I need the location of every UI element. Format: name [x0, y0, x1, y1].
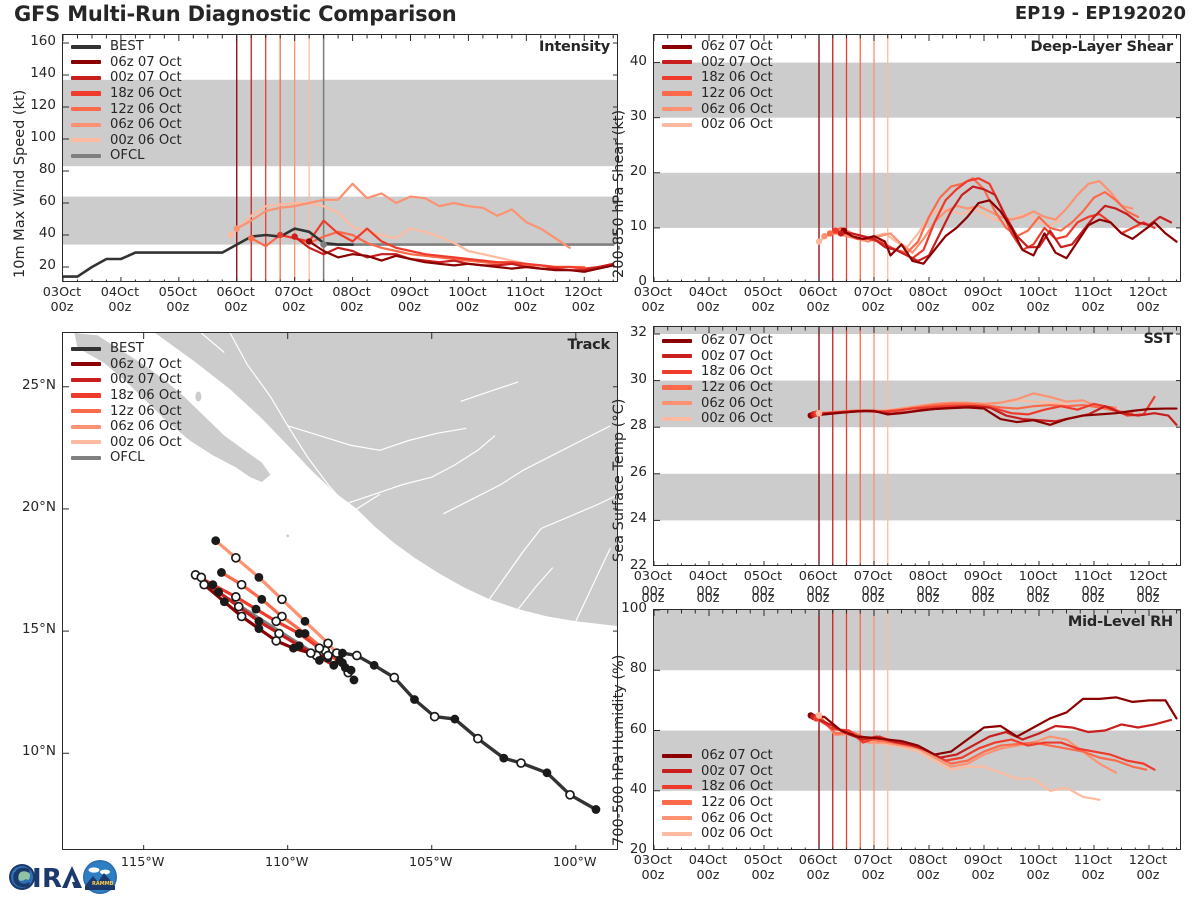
legend-swatch: [71, 107, 101, 111]
intensity-y-axis-label: 10m Max Wind Speed (kt): [12, 90, 28, 278]
legend-label: 18z 06 Oct: [110, 86, 182, 101]
shear-legend: 06z 07 Oct00z 07 Oct18z 06 Oct12z 06 Oct…: [662, 39, 773, 133]
legend-label: 12z 06 Oct: [110, 404, 182, 419]
legend-swatch: [71, 45, 101, 49]
legend-swatch: [662, 816, 692, 820]
legend-swatch: [662, 832, 692, 836]
legend-item: OFCL: [71, 148, 182, 164]
sst-panel: SST 06z 07 Oct00z 07 Oct18z 06 Oct12z 06…: [653, 326, 1181, 566]
legend-swatch: [71, 154, 101, 158]
legend-item: 06z 06 Oct: [662, 810, 773, 826]
legend-swatch: [71, 138, 101, 142]
legend-label: 00z 07 Oct: [110, 70, 182, 85]
legend-swatch: [662, 123, 692, 127]
legend-swatch: [662, 800, 692, 804]
legend-swatch: [662, 60, 692, 64]
x-tick-label: 105°W: [396, 856, 466, 871]
legend-label: 06z 06 Oct: [110, 117, 182, 132]
legend-label: 06z 06 Oct: [701, 396, 773, 411]
intensity-panel-title: Intensity: [539, 39, 610, 55]
legend-label: 06z 07 Oct: [110, 55, 182, 70]
legend-item: 00z 06 Oct: [662, 826, 773, 842]
legend-swatch: [71, 409, 101, 413]
legend-item: BEST: [71, 39, 182, 55]
y-tick-label: 30: [607, 371, 647, 387]
legend-swatch: [662, 385, 692, 389]
rh-panel-title: Mid-Level RH: [1068, 614, 1173, 630]
legend-item: 00z 07 Oct: [71, 372, 182, 388]
legend-swatch: [71, 425, 101, 429]
legend-label: 12z 06 Oct: [701, 86, 773, 101]
legend-swatch: [662, 339, 692, 343]
legend-swatch: [662, 354, 692, 358]
legend-item: 06z 07 Oct: [662, 748, 773, 764]
legend-label: 12z 06 Oct: [110, 102, 182, 117]
x-tick-label: 12Oct00z: [549, 286, 617, 315]
legend-item: 06z 06 Oct: [71, 419, 182, 435]
legend-item: 00z 07 Oct: [662, 764, 773, 780]
legend-swatch: [71, 393, 101, 397]
track-panel-title: Track: [568, 337, 610, 353]
y-tick-label: 32: [607, 324, 647, 340]
svg-text:RAMMB: RAMMB: [92, 881, 114, 887]
legend-item: 06z 06 Oct: [71, 117, 182, 133]
legend-item: 12z 06 Oct: [662, 380, 773, 396]
legend-item: 06z 07 Oct: [662, 39, 773, 55]
y-tick-label: 120: [16, 97, 56, 113]
x-tick-label: 12Oct00z: [1114, 286, 1182, 315]
legend-item: 12z 06 Oct: [662, 86, 773, 102]
legend-item: 18z 06 Oct: [71, 388, 182, 404]
y-tick-label: 24: [607, 510, 647, 526]
y-tick-label: 160: [16, 33, 56, 49]
y-tick-label: 40: [607, 781, 647, 797]
legend-swatch: [71, 362, 101, 366]
legend-swatch: [662, 45, 692, 49]
rh-y-axis-label: 700-500 hPa Humidity (%): [611, 655, 627, 846]
legend-swatch: [71, 378, 101, 382]
legend-swatch: [71, 76, 101, 80]
y-tick-label: 60: [607, 721, 647, 737]
legend-item: 06z 07 Oct: [662, 333, 773, 349]
svg-text:R: R: [42, 864, 62, 894]
x-tick-label: 00z: [1114, 592, 1182, 607]
legend-item: 00z 06 Oct: [71, 435, 182, 451]
cira-logo: C I R RAMMB: [6, 856, 126, 898]
y-tick-label: 40: [16, 225, 56, 241]
legend-label: 00z 07 Oct: [701, 349, 773, 364]
legend-label: 18z 06 Oct: [701, 779, 773, 794]
legend-item: 12z 06 Oct: [71, 403, 182, 419]
y-tick-label: 10: [607, 218, 647, 234]
legend-label: OFCL: [110, 148, 145, 163]
storm-id-title: EP19 - EP192020: [1015, 3, 1186, 24]
legend-label: 06z 07 Oct: [701, 333, 773, 348]
legend-item: 18z 06 Oct: [662, 779, 773, 795]
legend-swatch: [71, 456, 101, 460]
legend-label: 00z 07 Oct: [701, 55, 773, 70]
legend-swatch: [662, 785, 692, 789]
y-tick-label: 80: [16, 161, 56, 177]
legend-swatch: [662, 76, 692, 80]
legend-item: 00z 06 Oct: [662, 411, 773, 427]
y-tick-label: 100: [16, 129, 56, 145]
legend-label: BEST: [110, 341, 144, 356]
legend-label: 06z 06 Oct: [701, 102, 773, 117]
legend-label: 06z 07 Oct: [701, 748, 773, 763]
legend-swatch: [662, 370, 692, 374]
legend-label: 00z 06 Oct: [701, 826, 773, 841]
y-tick-label: 40: [607, 53, 647, 69]
sst-legend: 06z 07 Oct00z 07 Oct18z 06 Oct12z 06 Oct…: [662, 333, 773, 427]
rh-legend: 06z 07 Oct00z 07 Oct18z 06 Oct12z 06 Oct…: [662, 748, 773, 842]
legend-swatch: [662, 401, 692, 405]
y-tick-label: 80: [607, 660, 647, 676]
legend-label: 06z 06 Oct: [701, 811, 773, 826]
legend-item: 00z 07 Oct: [662, 349, 773, 365]
legend-label: 00z 06 Oct: [701, 411, 773, 426]
legend-item: 12z 06 Oct: [71, 101, 182, 117]
legend-label: 18z 06 Oct: [701, 70, 773, 85]
legend-label: 00z 07 Oct: [701, 764, 773, 779]
y-tick-label: 20°N: [0, 499, 56, 515]
legend-label: 00z 06 Oct: [701, 117, 773, 132]
legend-swatch: [71, 123, 101, 127]
legend-item: BEST: [71, 341, 182, 357]
sst-panel-title: SST: [1143, 331, 1173, 347]
intensity-legend: BEST06z 07 Oct00z 07 Oct18z 06 Oct12z 06…: [71, 39, 182, 164]
track-legend: BEST06z 07 Oct00z 07 Oct18z 06 Oct12z 06…: [71, 341, 182, 466]
legend-label: 06z 06 Oct: [110, 419, 182, 434]
legend-item: 06z 07 Oct: [71, 357, 182, 373]
legend-swatch: [662, 91, 692, 95]
legend-label: 00z 06 Oct: [110, 435, 182, 450]
legend-swatch: [662, 754, 692, 758]
y-tick-label: 140: [16, 65, 56, 81]
legend-item: 12z 06 Oct: [662, 795, 773, 811]
legend-swatch: [71, 60, 101, 64]
y-tick-label: 15°N: [0, 621, 56, 637]
y-tick-label: 28: [607, 417, 647, 433]
legend-swatch: [662, 417, 692, 421]
legend-item: 06z 06 Oct: [662, 101, 773, 117]
page-title: GFS Multi-Run Diagnostic Comparison: [14, 2, 456, 26]
x-tick-label: 110°W: [252, 856, 322, 871]
x-tick-label: 12Oct00z: [1114, 854, 1182, 883]
y-tick-label: 20: [607, 163, 647, 179]
x-tick-label: 100°W: [540, 856, 610, 871]
legend-label: 18z 06 Oct: [110, 388, 182, 403]
legend-item: 06z 06 Oct: [662, 395, 773, 411]
shear-y-axis-label: 200-850 hPa Shear (kt): [611, 110, 627, 278]
legend-item: 00z 06 Oct: [71, 133, 182, 149]
legend-label: 06z 07 Oct: [110, 357, 182, 372]
y-tick-label: 30: [607, 108, 647, 124]
legend-swatch: [71, 440, 101, 444]
legend-item: 18z 06 Oct: [662, 70, 773, 86]
legend-swatch: [71, 347, 101, 351]
legend-label: 00z 06 Oct: [110, 133, 182, 148]
legend-item: 06z 07 Oct: [71, 55, 182, 71]
svg-text:C: C: [12, 864, 31, 894]
legend-item: 18z 06 Oct: [662, 364, 773, 380]
legend-item: 00z 06 Oct: [662, 117, 773, 133]
legend-item: OFCL: [71, 450, 182, 466]
legend-label: 12z 06 Oct: [701, 380, 773, 395]
y-tick-label: 60: [16, 193, 56, 209]
shear-panel-title: Deep-Layer Shear: [1030, 39, 1173, 55]
y-tick-label: 25°N: [0, 377, 56, 393]
legend-item: 18z 06 Oct: [71, 86, 182, 102]
track-panel: Track BEST06z 07 Oct00z 07 Oct18z 06 Oct…: [62, 332, 618, 850]
legend-swatch: [71, 91, 101, 95]
legend-label: 18z 06 Oct: [701, 364, 773, 379]
intensity-panel: Intensity BEST06z 07 Oct00z 07 Oct18z 06…: [62, 34, 618, 282]
legend-item: 00z 07 Oct: [662, 55, 773, 71]
legend-swatch: [662, 769, 692, 773]
rh-panel: Mid-Level RH 06z 07 Oct00z 07 Oct18z 06 …: [653, 609, 1181, 850]
legend-label: OFCL: [110, 450, 145, 465]
y-tick-label: 26: [607, 464, 647, 480]
legend-label: BEST: [110, 39, 144, 54]
legend-swatch: [662, 107, 692, 111]
legend-label: 12z 06 Oct: [701, 795, 773, 810]
legend-item: 00z 07 Oct: [71, 70, 182, 86]
y-tick-label: 20: [16, 257, 56, 273]
legend-label: 06z 07 Oct: [701, 39, 773, 54]
legend-label: 00z 07 Oct: [110, 372, 182, 387]
y-tick-label: 10°N: [0, 743, 56, 759]
shear-panel: Deep-Layer Shear 06z 07 Oct00z 07 Oct18z…: [653, 34, 1181, 282]
svg-text:I: I: [32, 864, 42, 894]
